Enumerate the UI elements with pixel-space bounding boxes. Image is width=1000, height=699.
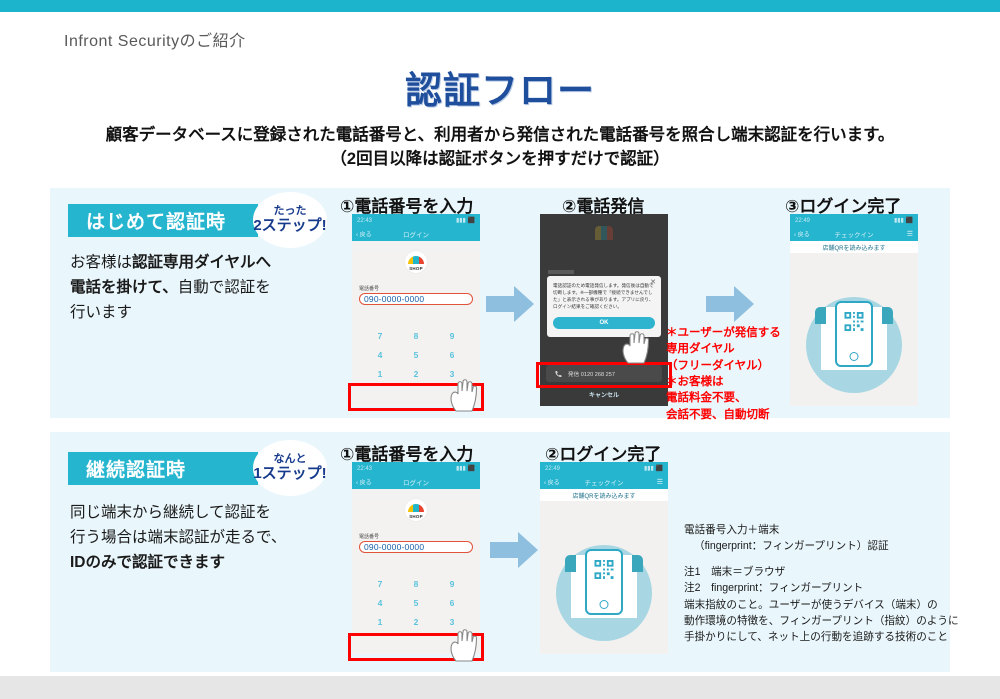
key-7-b[interactable]: 7 [362,579,398,589]
qr-code-icon [845,312,864,331]
phone-number-input-2[interactable]: 090-0000-0000 [359,541,473,553]
key-7[interactable]: 7 [362,331,398,341]
row-1-login-highlight [348,383,484,411]
row-2-desc-bold: IDのみで認証できます [70,554,225,571]
notes-gap [684,555,984,564]
checkin-nav-title-2: チェックイン [585,477,624,487]
slide-root: Infront Securityのご紹介 認証フロー 顧客データベースに登録され… [0,0,1000,699]
shop-logo-arc [408,256,424,264]
phone-nav-title: ログイン [403,229,429,239]
phone-status-time: 22:43 [357,218,372,224]
key-6-b[interactable]: 6 [434,598,470,608]
bottom-accent-bar [0,676,1000,699]
home-button-illustration [850,352,859,361]
eyebrow-text: Infront Securityのご紹介 [64,27,246,51]
page-subtitle: 顧客データベースに登録された電話番号と、利用者から発信された電話番号を照合し端末… [0,124,1000,172]
key-4-b[interactable]: 4 [362,598,398,608]
phone-number-input[interactable]: 090-0000-0000 [359,293,473,305]
shop-logo-dim-icon [595,226,613,240]
row-2-banner-label: 継続認証時 [86,455,186,482]
row-1-description: お客様は認証専用ダイヤルへ 電話を掛けて、自動で認証を 行います [70,250,330,325]
row-1-badge: たった 2ステップ! [253,192,327,248]
subtitle-line-1: 顧客データベースに登録された電話番号と、利用者から発信された電話番号を照合し端末… [0,124,1000,148]
keypad[interactable]: 7 8 9 4 5 6 1 2 3 [362,331,470,379]
note-2-line-1: 端末指紋のこと。ユーザーが使うデバイス（端末）の [684,597,984,613]
back-icon-4[interactable]: ‹ 戻る [544,478,560,487]
phone-field-label: 電話番号 [359,285,480,292]
key-1-b[interactable]: 1 [362,617,398,627]
phone-login-body-2: SHOP 電話番号 090-0000-0000 7 8 9 4 5 6 1 2 … [352,499,480,654]
key-1[interactable]: 1 [362,369,398,379]
row-2-desc-line-2: 行う場合は端末認証が走るで、 [70,529,286,546]
row-1-desc-part-1: お客様は [70,254,132,271]
call-phone-dim-label [548,270,574,274]
key-5[interactable]: 5 [398,350,434,360]
phone-signal-icons-2: ▮▮▮ ⬛ [456,465,475,472]
call-dialog: ✕ 電話認証のため電話発信します。発信後は自動で切断します。※一部機種で「接続で… [547,276,661,337]
row-1-desc-part-3: 行います [70,304,132,321]
phone-status-time-2: 22:43 [357,466,372,472]
row-2-badge: なんと 1ステップ! [253,440,327,496]
row-1-banner: はじめて認証時 [68,204,258,237]
page-title: 認証フロー [0,60,1000,114]
key-3-b[interactable]: 3 [434,617,470,627]
row-1-banner-label: はじめて認証時 [86,207,226,234]
shop-logo-arc-2 [408,504,424,512]
row-2-arrow-icon [490,530,538,570]
row-1-call-highlight [536,362,672,388]
home-button-illustration-2 [600,600,609,609]
subtitle-line-2: （2回目以降は認証ボタンを押すだけで認証） [0,148,1000,172]
checkin-illustration-2: 店舗QR読み取り › [540,501,668,654]
back-icon-2[interactable]: ‹ 戻る [794,230,810,239]
shop-logo-text-2: SHOP [405,514,427,519]
checkin-nav-bar-2: ‹ 戻る チェックイン ☰ [540,475,668,489]
top-accent-bar [0,0,1000,12]
checkin-nav-bar: ‹ 戻る チェックイン ☰ [790,227,918,241]
notes-heading-1: 電話番号入力＋端末 [684,522,984,538]
phone-status-bar-2: 22:43 ▮▮▮ ⬛ [352,462,480,475]
row-1-desc-bold-2: 電話を掛けて、 [70,279,178,296]
key-4[interactable]: 4 [362,350,398,360]
key-2[interactable]: 2 [398,369,434,379]
ok-button[interactable]: OK [553,317,655,329]
row-2-phone-login: 22:43 ▮▮▮ ⬛ ‹ 戻る ログイン SHOP 電話番号 090-0000… [352,462,480,654]
call-phone-top [540,226,668,281]
close-icon[interactable]: ✕ [650,278,656,286]
shop-logo-text: SHOP [405,266,427,271]
keypad-2[interactable]: 7 8 9 4 5 6 1 2 3 [362,579,470,627]
phone-number-value-2: 090-0000-0000 [364,542,424,552]
shop-logo-icon: SHOP [405,251,427,273]
row-2-banner: 継続認証時 [68,452,258,485]
cancel-button[interactable]: キャンセル [540,390,668,399]
row-2-phone-checkin: 22:49 ▮▮▮ ⬛ ‹ 戻る チェックイン ☰ 店舗QRを読み込みます [540,462,668,654]
row-1-badge-big: 2ステップ! [253,218,326,234]
mini-phone-illustration [835,301,873,367]
call-dialog-text: 電話認証のため電話発信します。発信後は自動で切断します。※一部機種で「接続できま… [553,282,655,310]
checkin-illustration: 店舗QR読み取り › [790,253,918,406]
notes-heading-2: （fingerprint：フィンガープリント）認証 [684,538,984,554]
row-2-description: 同じ端末から継続して認証を 行う場合は端末認証が走るで、 IDのみで認証できます [70,500,340,575]
shop-logo-icon-2: SHOP [405,499,427,521]
key-8[interactable]: 8 [398,331,434,341]
row-2-desc-line-1: 同じ端末から継続して認証を [70,504,271,521]
phone-nav-bar-2: ‹ 戻る ログイン [352,475,480,489]
back-icon[interactable]: ‹ 戻る [356,230,372,239]
note-2-line-2: 動作環境の特徴を、フィンガープリント（指紋）のように [684,613,984,629]
key-6[interactable]: 6 [434,350,470,360]
note-2-line-3: 手掛かりにして、ネット上の行動を追跡する技術のこと [684,629,984,645]
note-1: 注1 端末＝ブラウザ [684,564,984,580]
note-2: 注2 fingerprint：フィンガープリント [684,580,984,596]
phone-signal-icons: ▮▮▮ ⬛ [456,217,475,224]
phone-status-bar: 22:43 ▮▮▮ ⬛ [352,214,480,227]
checkin-sub-label: 店舗QRを読み込みます [790,241,918,253]
row-1-phone-login: 22:43 ▮▮▮ ⬛ ‹ 戻る ログイン SHOP 電話番号 090-0000… [352,214,480,406]
row-1-arrow-1-icon [486,284,534,324]
checkin-signal-icons: ▮▮▮ ⬛ [894,217,913,224]
phone-nav-title-2: ログイン [403,477,429,487]
phone-field-label-2: 電話番号 [359,533,480,540]
mini-phone-illustration-2 [585,549,623,615]
key-8-b[interactable]: 8 [398,579,434,589]
checkin-nav-title: チェックイン [835,229,874,239]
row-1-phone-checkin: 22:49 ▮▮▮ ⬛ ‹ 戻る チェックイン ☰ 店舗QRを読み込みます [790,214,918,406]
row-1-desc-bold-1: 認証専用ダイヤルへ [132,254,271,271]
red-note-line-6: 会話不要、自動切断 [666,407,826,423]
key-5-b[interactable]: 5 [398,598,434,608]
hamburger-icon[interactable]: ☰ [907,230,913,238]
qr-code-icon-2 [595,560,614,579]
phone-nav-bar: ‹ 戻る ログイン [352,227,480,241]
back-icon-3[interactable]: ‹ 戻る [356,478,372,487]
key-9[interactable]: 9 [434,331,470,341]
checkin-status-time-2: 22:49 [545,466,560,472]
row-1-arrow-2-icon [706,284,754,324]
checkin-status-time: 22:49 [795,218,810,224]
ok-button-label: OK [600,320,609,326]
checkin-status-bar-2: 22:49 ▮▮▮ ⬛ [540,462,668,475]
row-1-desc-part-2: 自動で認証を [178,279,271,296]
checkin-sub-label-2: 店舗QRを読み込みます [540,489,668,501]
phone-number-value: 090-0000-0000 [364,294,424,304]
key-9-b[interactable]: 9 [434,579,470,589]
hamburger-icon-2[interactable]: ☰ [657,478,663,486]
key-3[interactable]: 3 [434,369,470,379]
checkin-signal-icons-2: ▮▮▮ ⬛ [644,465,663,472]
key-2-b[interactable]: 2 [398,617,434,627]
footnotes-block: 電話番号入力＋端末 （fingerprint：フィンガープリント）認証 注1 端… [684,522,984,646]
row-2-badge-big: 1ステップ! [253,466,326,482]
row-2-login-highlight [348,633,484,661]
checkin-status-bar: 22:49 ▮▮▮ ⬛ [790,214,918,227]
